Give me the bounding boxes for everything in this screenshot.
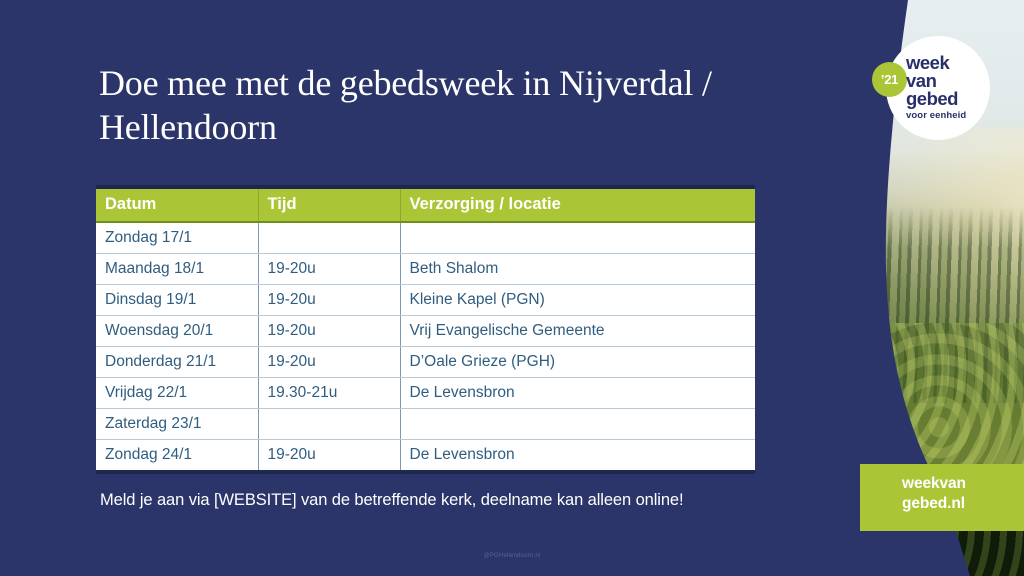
photo-canopy-layer xyxy=(800,323,1024,473)
cell-datum: Dinsdag 19/1 xyxy=(96,285,258,316)
table-header-row: Datum Tijd Verzorging / locatie xyxy=(96,189,755,222)
cell-locatie: De Levensbron xyxy=(400,440,755,471)
cell-locatie xyxy=(400,409,755,440)
cell-locatie: Kleine Kapel (PGN) xyxy=(400,285,755,316)
cell-tijd: 19-20u xyxy=(258,316,400,347)
column-header-verzorging-locatie: Verzorging / locatie xyxy=(400,189,755,222)
cell-locatie: De Levensbron xyxy=(400,378,755,409)
logo-subtitle: voor eenheid xyxy=(906,111,990,120)
page-title: Doe mee met de gebedsweek in Nijverdal /… xyxy=(99,62,719,150)
schedule-table-wrapper: Datum Tijd Verzorging / locatie Zondag 1… xyxy=(96,185,755,474)
cell-tijd: 19.30-21u xyxy=(258,378,400,409)
table-head: Datum Tijd Verzorging / locatie xyxy=(96,189,755,222)
cell-tijd xyxy=(258,409,400,440)
cell-datum: Zaterdag 23/1 xyxy=(96,409,258,440)
logo-wordmark: week van gebed voor eenheid xyxy=(906,54,990,121)
cell-tijd: 19-20u xyxy=(258,347,400,378)
url-band-line1: weekvan xyxy=(902,474,1024,494)
cell-datum: Woensdag 20/1 xyxy=(96,316,258,347)
table-bottom-rule xyxy=(96,470,755,474)
table-body: Zondag 17/1 Maandag 18/1 19-20u Beth Sha… xyxy=(96,222,755,470)
credit-line: @PGHellendoorn.nl xyxy=(0,553,1024,559)
logo-line-gebed: gebed xyxy=(906,90,990,108)
cell-datum: Vrijdag 22/1 xyxy=(96,378,258,409)
cell-datum: Donderdag 21/1 xyxy=(96,347,258,378)
logo-year-badge: ’21 xyxy=(872,62,907,97)
column-header-datum: Datum xyxy=(96,189,258,222)
table-row: Dinsdag 19/1 19-20u Kleine Kapel (PGN) xyxy=(96,285,755,316)
schedule-table: Datum Tijd Verzorging / locatie Zondag 1… xyxy=(96,189,755,470)
signup-caption: Meld je aan via [WEBSITE] van de betreff… xyxy=(100,491,820,510)
slide-canvas: weekvan gebed.nl ’21 week van gebed voor… xyxy=(0,0,1024,576)
table-row: Zondag 17/1 xyxy=(96,222,755,254)
column-header-tijd: Tijd xyxy=(258,189,400,222)
table-row: Donderdag 21/1 19-20u D’Oale Grieze (PGH… xyxy=(96,347,755,378)
cell-tijd: 19-20u xyxy=(258,285,400,316)
cell-locatie: Vrij Evangelische Gemeente xyxy=(400,316,755,347)
week-van-gebed-logo: ’21 week van gebed voor eenheid xyxy=(872,36,990,154)
cell-locatie xyxy=(400,222,755,254)
cell-tijd: 19-20u xyxy=(258,254,400,285)
table-row: Vrijdag 22/1 19.30-21u De Levensbron xyxy=(96,378,755,409)
url-band-line2: gebed.nl xyxy=(902,494,1024,514)
cell-datum: Maandag 18/1 xyxy=(96,254,258,285)
table-row: Zondag 24/1 19-20u De Levensbron xyxy=(96,440,755,471)
url-band-text: weekvan gebed.nl xyxy=(902,474,1024,515)
table-row: Maandag 18/1 19-20u Beth Shalom xyxy=(96,254,755,285)
cell-datum: Zondag 24/1 xyxy=(96,440,258,471)
table-row: Woensdag 20/1 19-20u Vrij Evangelische G… xyxy=(96,316,755,347)
cell-datum: Zondag 17/1 xyxy=(96,222,258,254)
cell-tijd xyxy=(258,222,400,254)
cell-locatie: Beth Shalom xyxy=(400,254,755,285)
cell-tijd: 19-20u xyxy=(258,440,400,471)
table-row: Zaterdag 23/1 xyxy=(96,409,755,440)
cell-locatie: D’Oale Grieze (PGH) xyxy=(400,347,755,378)
